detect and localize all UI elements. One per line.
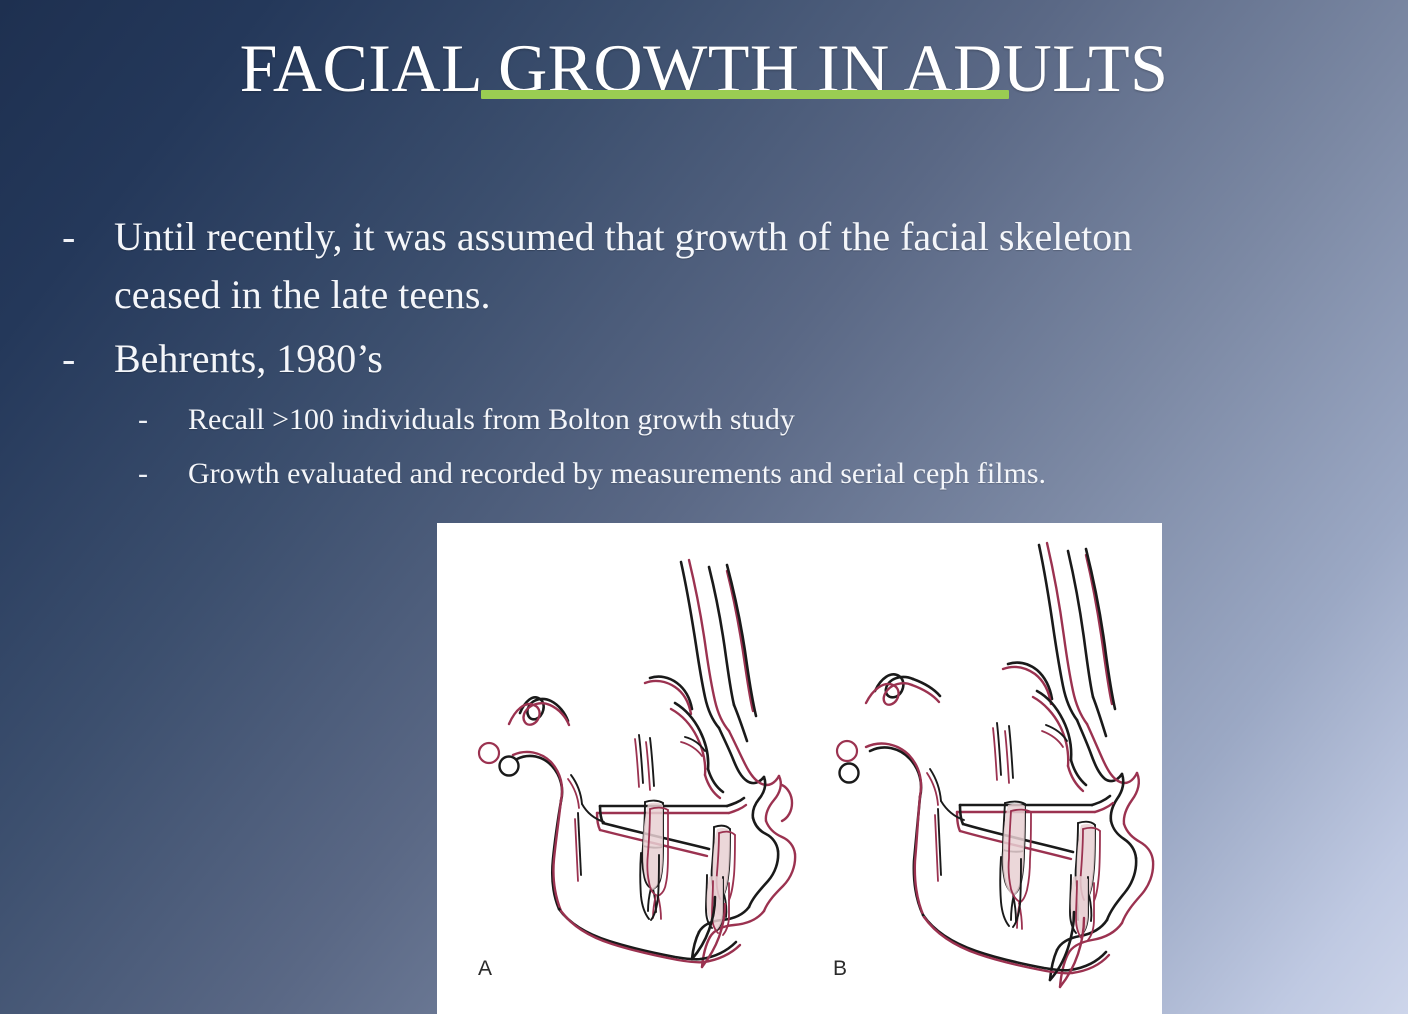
- bullet-marker: -: [138, 394, 188, 446]
- bullet-text: Growth evaluated and recorded by measure…: [188, 448, 1378, 500]
- bullet-marker: -: [62, 208, 114, 266]
- panel-label-a: A: [478, 957, 492, 980]
- bullet-item-3: - Recall >100 individuals from Bolton gr…: [0, 394, 1408, 446]
- bullet-text: Until recently, it was assumed that grow…: [114, 208, 1176, 324]
- bullet-item-2: - Behrents, 1980’s: [0, 330, 1408, 388]
- panel-label-b: B: [833, 957, 847, 980]
- title-underline-accent: [481, 90, 1009, 99]
- bullet-marker: -: [62, 330, 114, 388]
- slide-canvas: FACIAL GROWTH IN ADULTS - Until recently…: [0, 0, 1408, 1014]
- cephalometric-figure: .blk { fill:none; stroke:#1a1a1a; stroke…: [437, 523, 1162, 1014]
- bullet-text: Recall >100 individuals from Bolton grow…: [188, 394, 1378, 446]
- bullet-text: Behrents, 1980’s: [114, 330, 1176, 388]
- cephalometric-tracing-svg: .blk { fill:none; stroke:#1a1a1a; stroke…: [437, 523, 1162, 1014]
- bullet-item-4: - Growth evaluated and recorded by measu…: [0, 448, 1408, 500]
- bullet-list: - Until recently, it was assumed that gr…: [0, 208, 1408, 502]
- bullet-item-1: - Until recently, it was assumed that gr…: [0, 208, 1408, 324]
- bullet-marker: -: [138, 448, 188, 500]
